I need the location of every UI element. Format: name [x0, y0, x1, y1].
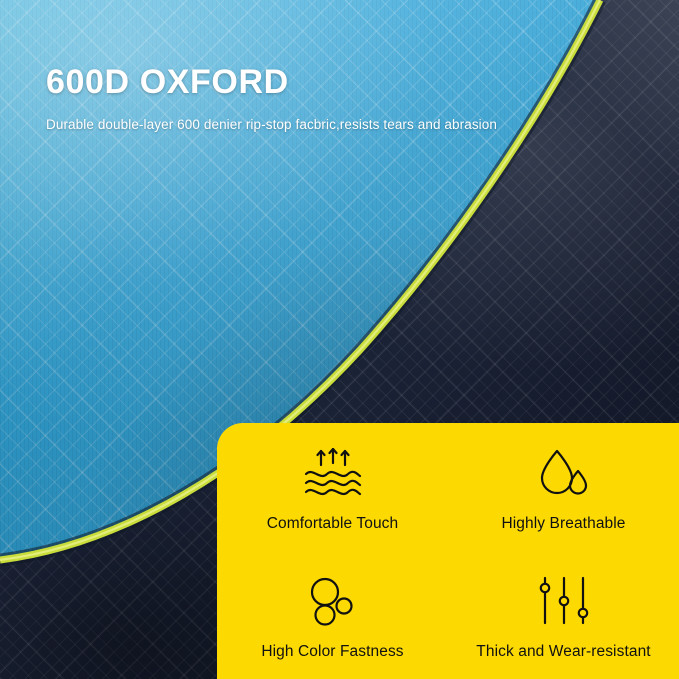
waves-with-up-arrows-icon	[302, 445, 364, 501]
feature-grid: Comfortable Touch Highly Breathable	[217, 423, 679, 679]
feature-label: Highly Breathable	[501, 515, 625, 533]
feature-label: Comfortable Touch	[267, 515, 399, 533]
feature-label: High Color Fastness	[261, 643, 403, 661]
product-feature-image: 600D OXFORD Durable double-layer 600 den…	[0, 0, 679, 679]
feature-item-comfortable-touch: Comfortable Touch	[217, 423, 448, 551]
sliders-icon	[535, 573, 593, 629]
bubbles-circles-icon	[306, 573, 360, 629]
feature-panel: Comfortable Touch Highly Breathable	[217, 423, 679, 679]
headline-subtitle: Durable double-layer 600 denier rip-stop…	[46, 117, 626, 132]
feature-label: Thick and Wear-resistant	[476, 643, 650, 661]
headline-title: 600D OXFORD	[46, 64, 626, 101]
feature-item-thick-and-wear-resistant: Thick and Wear-resistant	[448, 551, 679, 679]
feature-item-highly-breathable: Highly Breathable	[448, 423, 679, 551]
water-drops-icon	[537, 445, 591, 501]
headline-block: 600D OXFORD Durable double-layer 600 den…	[46, 64, 626, 132]
feature-item-high-color-fastness: High Color Fastness	[217, 551, 448, 679]
